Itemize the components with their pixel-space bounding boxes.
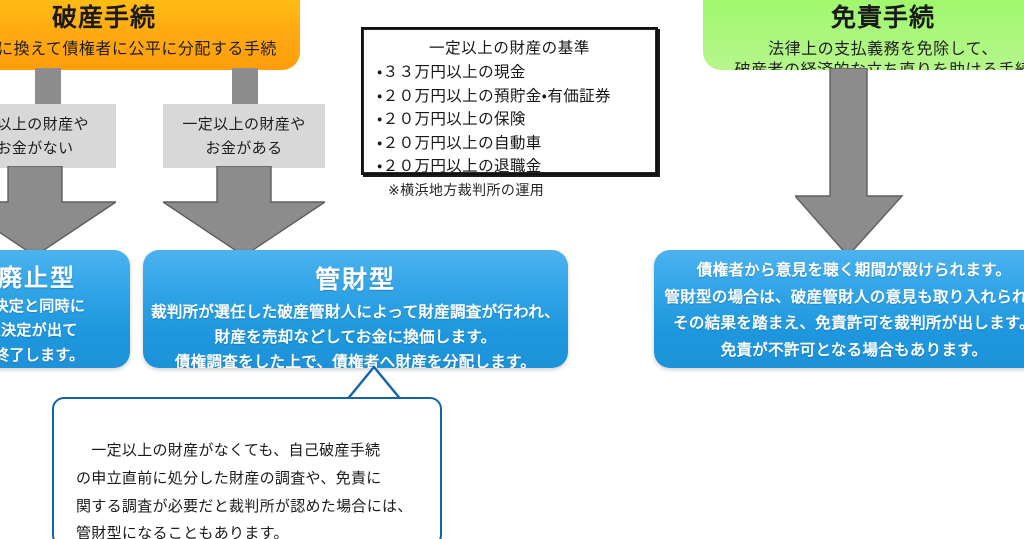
- arrow-to-kanzai: [163, 166, 325, 256]
- kanzai-note-line-3: 関する調査が必要だと裁判所が認めた場合には、: [76, 493, 420, 521]
- diagram-canvas: 破産手続 産をお金に換えて債権者に公平に分配する手続 免責手続 法律上の支払義務…: [0, 0, 1024, 539]
- simultaneous-abolition-line-2: 廃止決定が出て: [0, 319, 130, 343]
- trustee-type-line-1: 裁判所が選任した破産管財人によって財産調査が行われ、: [143, 300, 568, 325]
- simultaneous-abolition-title: 時廃止型: [0, 258, 130, 293]
- condition-no-assets-line-1: 定以上の財産や: [0, 116, 89, 133]
- condition-has-assets-line-1: 一定以上の財産や: [182, 116, 305, 133]
- asset-criteria-box: 一定以上の財産の基準 ・３３万円以上の現金 ・２０万円以上の預貯金・有価証券 ・…: [361, 27, 658, 175]
- kanzai-note-line-1: 一定以上の財産がなくても、自己破産手続: [76, 437, 420, 465]
- kanzai-note-line-2: の申立直前に処分した財産の調査や、免責に: [76, 465, 420, 493]
- discharge-result-box: 債権者から意見を聴く期間が設けられます。 管財型の場合は、破産管財人の意見も取り…: [654, 250, 1024, 368]
- condition-box-no-assets: 定以上の財産や お金がない: [0, 104, 116, 168]
- asset-criteria-item-2: ・２０万円以上の預貯金・有価証券: [377, 85, 642, 109]
- bankruptcy-procedure-title: 破産手続: [0, 2, 300, 36]
- asset-criteria-item-3: ・２０万円以上の保険: [377, 108, 642, 132]
- condition-no-assets-line-2: お金がない: [0, 140, 74, 157]
- bankruptcy-procedure-header-box: 破産手続 産をお金に換えて債権者に公平に分配する手続: [0, 0, 300, 70]
- discharge-result-line-2: 管財型の場合は、破産管財人の意見も取り入れられま: [654, 285, 1024, 312]
- trustee-type-box: 管財型 裁判所が選任した破産管財人によって財産調査が行われ、 財産を売却などして…: [143, 250, 568, 368]
- simultaneous-abolition-line-3: 続は終了します。: [0, 344, 130, 368]
- simultaneous-abolition-line-1: 開始決定と同時に: [0, 295, 130, 319]
- discharge-result-line-1: 債権者から意見を聴く期間が設けられます。: [654, 258, 1024, 285]
- arrow-header-to-no-assets: [35, 68, 61, 106]
- trustee-type-title: 管財型: [143, 260, 568, 296]
- discharge-procedure-header-box: 免責手続 法律上の支払義務を免除して、 破産者の経済的な立ち直りを助ける手続: [703, 0, 1024, 70]
- bankruptcy-procedure-description: 産をお金に換えて債権者に公平に分配する手続: [0, 39, 300, 61]
- asset-criteria-item-4: ・２０万円以上の自動車: [377, 132, 642, 156]
- kanzai-note-line-4: 管財型になることもあります。: [76, 520, 420, 539]
- kanzai-note-callout-box: 一定以上の財産がなくても、自己破産手続 の申立直前に処分した財産の調査や、免責に…: [52, 397, 442, 539]
- discharge-procedure-title: 免責手続: [703, 2, 1024, 36]
- discharge-result-line-4: 免責が不許可となる場合もあります。: [654, 338, 1024, 365]
- arrow-to-simultaneous: [0, 166, 116, 256]
- arrow-discharge-long: [795, 68, 915, 256]
- condition-box-has-assets: 一定以上の財産や お金がある: [163, 104, 325, 168]
- asset-criteria-item-1: ・３３万円以上の現金: [377, 61, 642, 85]
- asset-criteria-footnote: ※横浜地方裁判所の運用: [388, 180, 544, 200]
- asset-criteria-item-5: ・２０万円以上の退職金: [377, 155, 642, 179]
- condition-has-assets-line-2: お金がある: [205, 140, 282, 157]
- discharge-procedure-description-line-1: 法律上の支払義務を免除して、: [703, 39, 1024, 61]
- asset-criteria-title: 一定以上の財産の基準: [377, 36, 642, 58]
- arrow-header-to-has-assets: [232, 68, 258, 106]
- simultaneous-abolition-type-box: 時廃止型 開始決定と同時に 廃止決定が出て 続は終了します。: [0, 250, 130, 368]
- discharge-result-line-3: その結果を踏まえ、免責許可を裁判所が出します。: [654, 311, 1024, 338]
- trustee-type-line-2: 財産を売却などしてお金に換価します。: [143, 325, 568, 350]
